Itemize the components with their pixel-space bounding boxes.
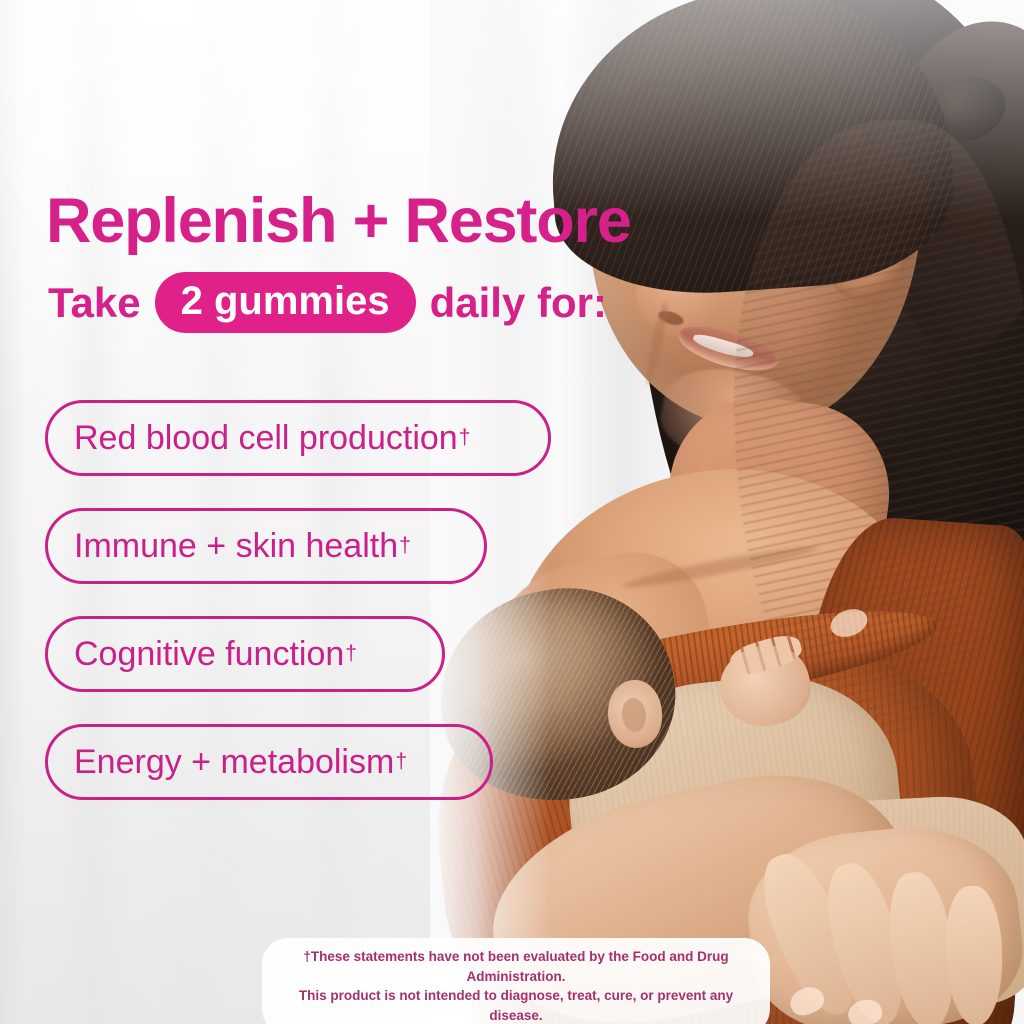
benefit-item-energy-metabolism: Energy + metabolism† [45, 724, 493, 800]
disclaimer-line-1: †These statements have not been evaluate… [278, 947, 754, 986]
benefit-item-immune-skin-health: Immune + skin health† [45, 508, 487, 584]
page-title: Replenish + Restore [46, 190, 631, 253]
dosage-line: Take 2 gummies daily for: [48, 272, 607, 333]
dosage-prefix: Take [48, 282, 141, 324]
dosage-badge: 2 gummies [155, 272, 416, 333]
fda-disclaimer: †These statements have not been evaluate… [262, 938, 770, 1024]
benefit-label: Cognitive function [74, 635, 344, 674]
disclaimer-line-2: This product is not intended to diagnose… [278, 986, 754, 1024]
benefit-label: Red blood cell production [74, 419, 458, 458]
benefit-list: Red blood cell production† Immune + skin… [45, 400, 551, 800]
benefit-item-red-blood-cell-production: Red blood cell production† [45, 400, 551, 476]
benefit-label: Energy + metabolism [74, 743, 394, 782]
promo-graphic: Replenish + Restore Take 2 gummies daily… [0, 0, 1024, 1024]
dosage-suffix: daily for: [430, 282, 607, 324]
benefit-item-cognitive-function: Cognitive function† [45, 616, 445, 692]
benefit-label: Immune + skin health [74, 527, 398, 566]
